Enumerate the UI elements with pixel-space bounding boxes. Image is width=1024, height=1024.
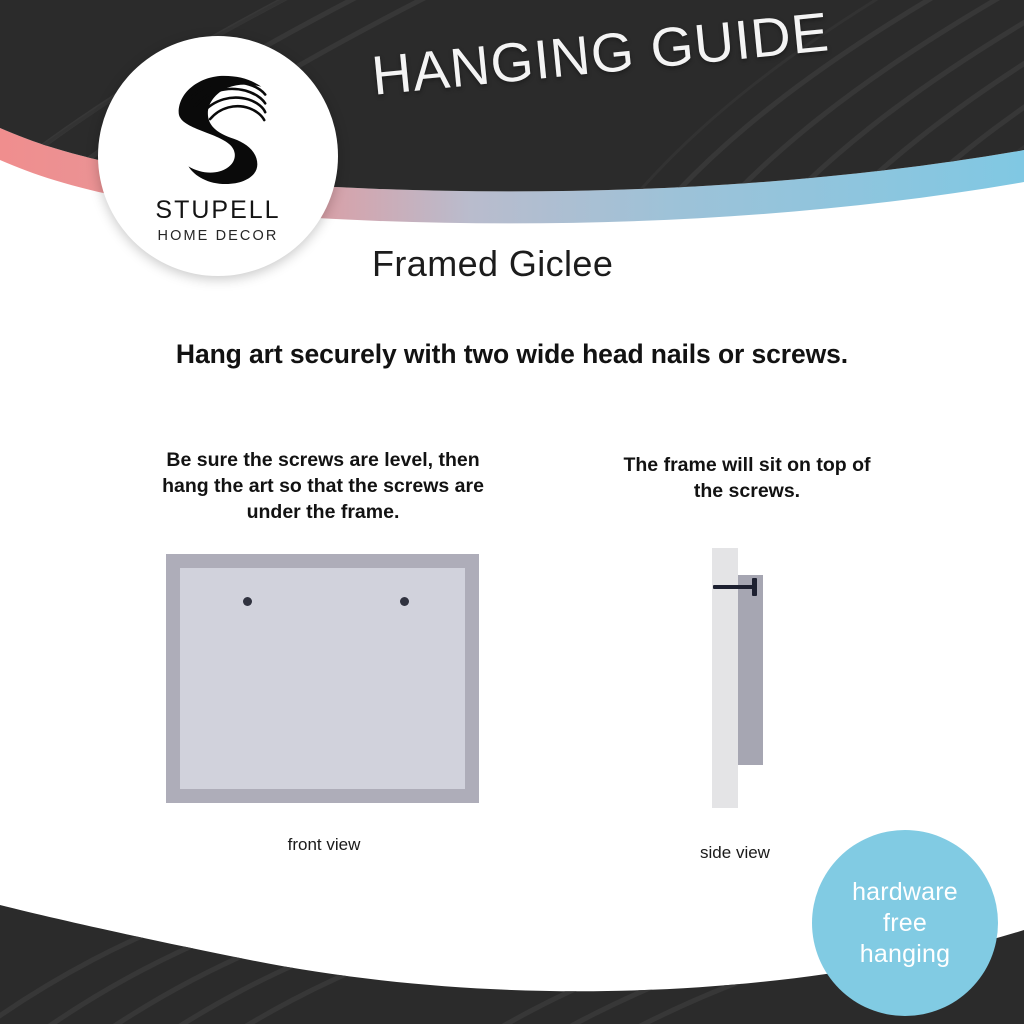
side-view-frame-diagram: [700, 540, 780, 820]
side-view-frame: [738, 575, 763, 765]
front-view-frame-diagram: [166, 554, 479, 803]
main-instruction-text: Hang art securely with two wide head nai…: [0, 339, 1024, 370]
front-view-mat: [180, 568, 465, 789]
product-subtitle: Framed Giclee: [372, 243, 613, 285]
side-view-screw-head: [752, 578, 757, 596]
side-view-screw-shaft: [713, 585, 757, 589]
stupell-swirl-icon: [159, 66, 277, 186]
hardware-free-hanging-badge: hardware free hanging: [812, 830, 998, 1016]
stupell-logo-badge: STUPELL HOME DECOR: [98, 36, 338, 276]
badge-line-3: hanging: [860, 939, 950, 970]
page-title: HANGING GUIDE: [369, 0, 893, 108]
badge-line-2: free: [883, 908, 927, 939]
screw-dot-right: [400, 597, 409, 606]
badge-line-1: hardware: [852, 877, 958, 908]
front-view-label: front view: [165, 835, 483, 855]
side-view-label: side view: [640, 843, 830, 863]
logo-sub-wordmark: HOME DECOR: [98, 228, 338, 244]
side-view-caption: The frame will sit on top of the screws.: [608, 452, 886, 504]
logo-wordmark: STUPELL: [98, 196, 338, 225]
front-view-caption: Be sure the screws are level, then hang …: [155, 447, 491, 525]
screw-dot-left: [243, 597, 252, 606]
hanging-guide-infographic: STUPELL HOME DECOR HANGING GUIDE Framed …: [0, 0, 1024, 1024]
